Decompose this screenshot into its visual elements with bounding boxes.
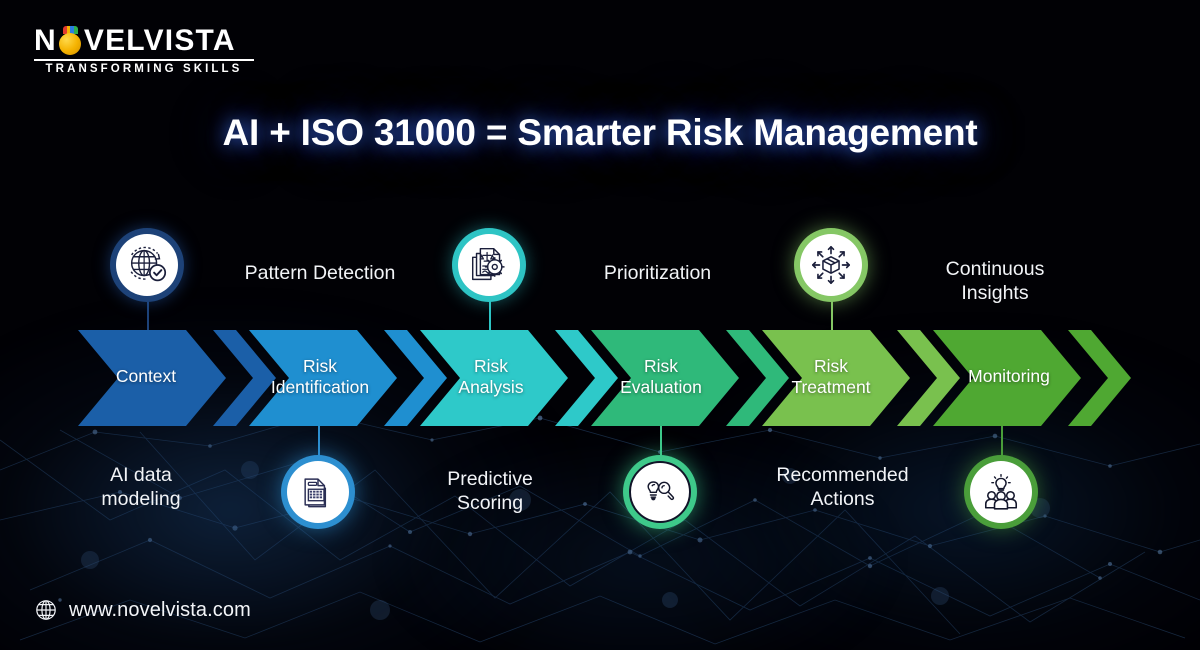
- brand-wordmark: N VELVISTA: [34, 26, 254, 56]
- brand-divider: [34, 59, 254, 61]
- globe-icon: [34, 598, 58, 622]
- annotation-prioritization: Prioritization: [565, 262, 750, 286]
- process-step-risk-treatment: [762, 330, 960, 426]
- annotation-text: AI data modeling: [101, 464, 180, 510]
- globe-check-icon: [124, 242, 170, 288]
- brand-name-part2: VELVISTA: [84, 26, 236, 56]
- brand-name-part1: N: [34, 26, 57, 56]
- badge-document-table[interactable]: [281, 455, 355, 529]
- footer-url[interactable]: www.novelvista.com: [69, 599, 251, 622]
- annotation-pattern-detection: Pattern Detection: [215, 262, 425, 286]
- box-arrows-icon: [808, 242, 854, 288]
- process-step-context: [78, 330, 276, 426]
- orb-logo-icon: [58, 29, 83, 54]
- badge-globe-check[interactable]: [110, 228, 184, 302]
- annotation-text: Predictive Scoring: [447, 468, 533, 514]
- annotation-recommended-actions: Recommended Actions: [740, 464, 945, 512]
- badge-bulb-search[interactable]: [623, 455, 697, 529]
- badge-document-scales-gear[interactable]: [452, 228, 526, 302]
- process-step-risk-analysis: [420, 330, 618, 426]
- bulb-search-icon: [640, 472, 680, 512]
- annotation-text: Prioritization: [604, 262, 711, 284]
- process-step-risk-identification: [249, 330, 447, 426]
- annotation-text: Recommended Actions: [776, 464, 908, 510]
- process-step-risk-evaluation: [591, 330, 789, 426]
- bulb-team-icon: [980, 471, 1022, 513]
- brand-logo: N VELVISTA TRANSFORMING SKILLS: [34, 26, 254, 75]
- process-flow-band: [0, 0, 1200, 650]
- process-step-monitoring: [933, 330, 1131, 426]
- annotation-continuous-insights: Continuous Insights: [900, 258, 1090, 306]
- brand-tagline: TRANSFORMING SKILLS: [34, 63, 254, 75]
- page-title: AI + ISO 31000 = Smarter Risk Management: [0, 112, 1200, 154]
- badge-box-arrows[interactable]: [794, 228, 868, 302]
- annotation-text: Continuous Insights: [946, 258, 1045, 304]
- annotation-text: Pattern Detection: [245, 262, 396, 284]
- document-scales-gear-icon: [466, 242, 512, 288]
- document-table-icon: [296, 470, 340, 514]
- badge-bulb-team[interactable]: [964, 455, 1038, 529]
- annotation-predictive-scoring: Predictive Scoring: [395, 468, 585, 516]
- annotation-ai-data-modeling: AI data modeling: [46, 464, 236, 512]
- footer: www.novelvista.com: [34, 598, 251, 622]
